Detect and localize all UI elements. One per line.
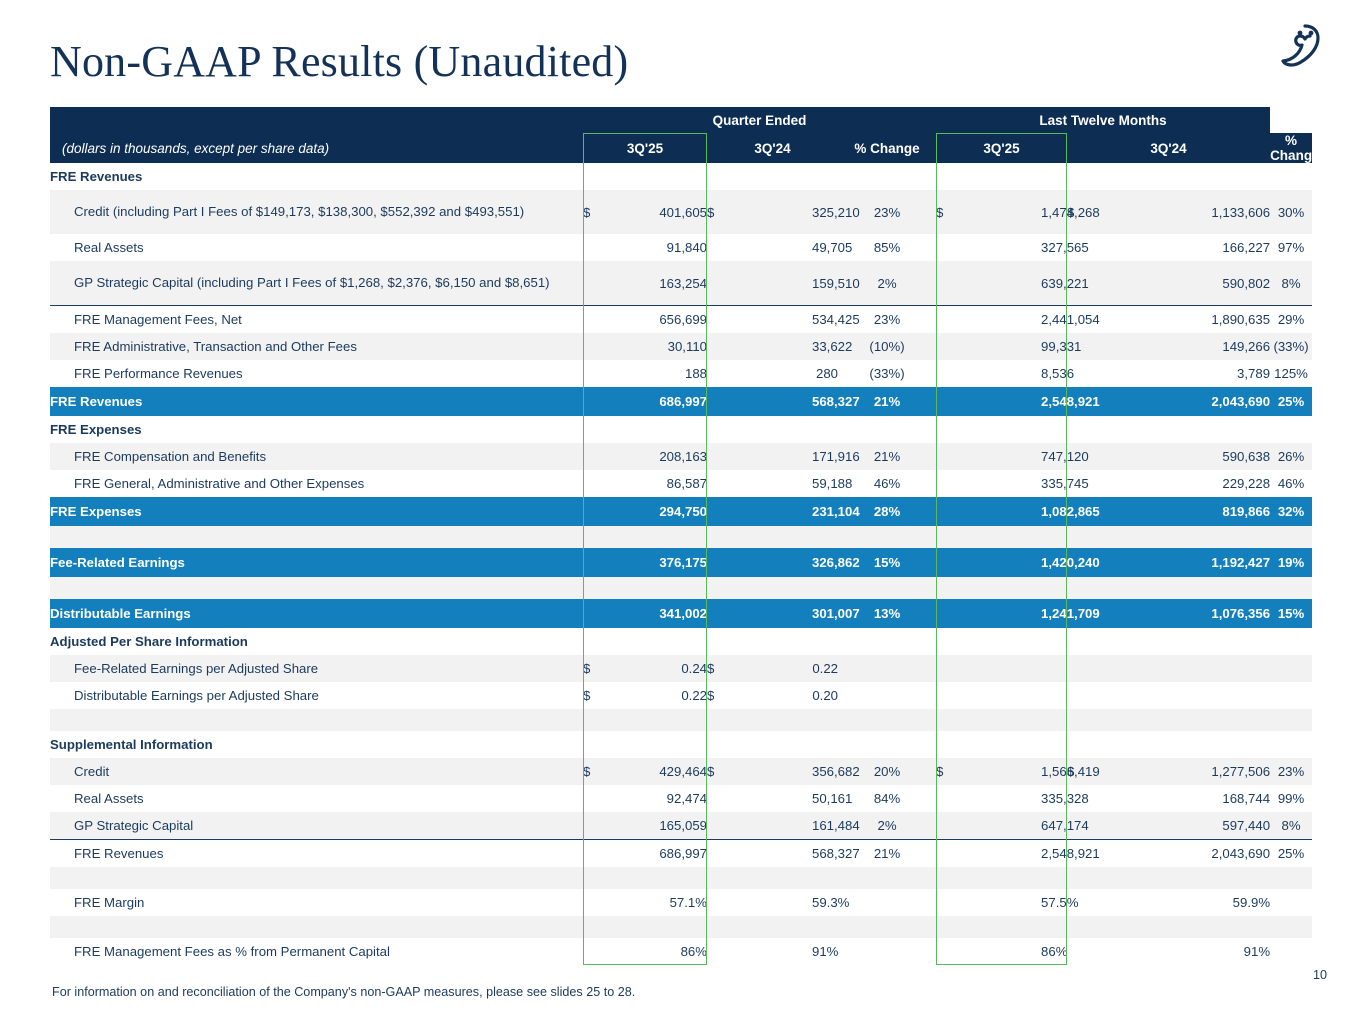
cell-currency-symbol: $ — [707, 655, 812, 682]
cell-percent — [838, 577, 936, 599]
cell-value: 0.22 — [812, 655, 838, 682]
cell-percent: 99% — [1270, 785, 1312, 812]
column-header-ltm-3q24: 3Q'24 — [1067, 133, 1270, 163]
table-row: Credit (including Part I Fees of $149,17… — [50, 190, 1312, 234]
cell-value: 91,840 — [609, 234, 707, 261]
cell-value: 325,210 — [812, 190, 838, 234]
cell-value — [1165, 577, 1270, 599]
cell-percent: (33%) — [838, 360, 936, 387]
cell-currency-symbol — [583, 840, 609, 868]
cell-currency-symbol — [936, 938, 1041, 965]
cell-value — [1041, 709, 1067, 731]
cell-value — [1165, 731, 1270, 758]
cell-value — [812, 867, 838, 889]
cell-currency-symbol: $ — [583, 682, 609, 709]
cell-value — [1165, 867, 1270, 889]
row-label: GP Strategic Capital (including Part I F… — [50, 261, 583, 306]
cell-value: 1,192,427 — [1165, 548, 1270, 577]
cell-currency-symbol — [707, 526, 812, 548]
row-label: Real Assets — [50, 234, 583, 261]
cell-percent — [1270, 655, 1312, 682]
cell-value: 1,133,606 — [1165, 190, 1270, 234]
cell-value — [812, 577, 838, 599]
cell-value — [609, 731, 707, 758]
cell-value: 188 — [609, 360, 707, 387]
cell-value: 534,425 — [812, 306, 838, 334]
non-gaap-results-table: Quarter EndedLast Twelve Months (dollars… — [50, 107, 1312, 965]
cell-currency-symbol — [583, 526, 609, 548]
cell-percent: 46% — [838, 470, 936, 497]
cell-value: 99,331 — [1041, 333, 1067, 360]
cell-value: 2,441,054 — [1041, 306, 1067, 334]
cell-currency-symbol — [583, 938, 609, 965]
cell-currency-symbol — [707, 867, 812, 889]
cell-currency-symbol — [1067, 682, 1165, 709]
cell-currency-symbol — [707, 443, 812, 470]
cell-percent: 46% — [1270, 470, 1312, 497]
table-row: FRE Administrative, Transaction and Othe… — [50, 333, 1312, 360]
row-label: FRE General, Administrative and Other Ex… — [50, 470, 583, 497]
row-label: FRE Margin — [50, 889, 583, 916]
cell-value: 401,605 — [609, 190, 707, 234]
cell-value: 59.9% — [1165, 889, 1270, 916]
cell-value: 59,188 — [812, 470, 838, 497]
column-header-quarter-3q24: 3Q'24 — [707, 133, 838, 163]
cell-currency-symbol — [707, 599, 812, 628]
group-header-row: Quarter EndedLast Twelve Months — [50, 107, 1312, 133]
cell-currency-symbol — [936, 916, 1041, 938]
cell-currency-symbol — [707, 812, 812, 840]
cell-currency-symbol — [936, 497, 1041, 526]
column-header-ltm-3q25: 3Q'25 — [936, 133, 1067, 163]
cell-value — [1041, 682, 1067, 709]
row-label: Fee-Related Earnings — [50, 548, 583, 577]
cell-value: 647,174 — [1041, 812, 1067, 840]
cell-value: 301,007 — [812, 599, 838, 628]
cell-value — [1165, 916, 1270, 938]
table-row: FRE Expenses — [50, 416, 1312, 443]
cell-value: 294,750 — [609, 497, 707, 526]
cell-currency-symbol — [707, 628, 812, 655]
cell-value: 8,536 — [1041, 360, 1067, 387]
cell-currency-symbol — [1067, 916, 1165, 938]
cell-value: 341,002 — [609, 599, 707, 628]
row-label — [50, 916, 583, 938]
cell-currency-symbol — [936, 840, 1041, 868]
footnote: For information on and reconciliation of… — [52, 985, 635, 999]
cell-currency-symbol — [1067, 709, 1165, 731]
cell-currency-symbol — [936, 655, 1041, 682]
table-row: Fee-Related Earnings per Adjusted Share$… — [50, 655, 1312, 682]
cell-currency-symbol — [936, 599, 1041, 628]
table-row — [50, 867, 1312, 889]
cell-currency-symbol — [1067, 416, 1165, 443]
cell-value: 1,082,865 — [1041, 497, 1067, 526]
cell-currency-symbol — [936, 731, 1041, 758]
cell-percent — [1270, 731, 1312, 758]
cell-currency-symbol: $ — [583, 655, 609, 682]
cell-value: 168,744 — [1165, 785, 1270, 812]
cell-currency-symbol: $ — [707, 682, 812, 709]
cell-value: 92,474 — [609, 785, 707, 812]
cell-value: 819,866 — [1165, 497, 1270, 526]
cell-percent — [1270, 916, 1312, 938]
cell-currency-symbol — [936, 234, 1041, 261]
cell-percent — [838, 709, 936, 731]
table-body: FRE RevenuesCredit (including Part I Fee… — [50, 163, 1312, 965]
cell-currency-symbol — [707, 840, 812, 868]
cell-percent: 23% — [1270, 758, 1312, 785]
cell-value: 86% — [609, 938, 707, 965]
cell-value — [812, 628, 838, 655]
cell-currency-symbol: $ — [936, 758, 1041, 785]
cell-currency-symbol — [1067, 163, 1165, 190]
cell-currency-symbol — [583, 731, 609, 758]
cell-currency-symbol — [707, 163, 812, 190]
cell-percent — [838, 867, 936, 889]
cell-value — [609, 628, 707, 655]
cell-value — [1041, 628, 1067, 655]
cell-percent: 25% — [1270, 840, 1312, 868]
page-number: 10 — [1313, 968, 1327, 982]
cell-percent: 25% — [1270, 387, 1312, 416]
cell-currency-symbol — [936, 261, 1041, 306]
table-row: Real Assets91,84049,70585%327,565166,227… — [50, 234, 1312, 261]
cell-value — [1165, 416, 1270, 443]
cell-value: 2,548,921 — [1041, 387, 1067, 416]
cell-value — [609, 916, 707, 938]
cell-value: 356,682 — [812, 758, 838, 785]
cell-value — [812, 526, 838, 548]
cell-value — [1041, 731, 1067, 758]
row-label: FRE Revenues — [50, 387, 583, 416]
cell-value: 327,565 — [1041, 234, 1067, 261]
cell-currency-symbol — [707, 938, 812, 965]
cell-currency-symbol — [707, 470, 812, 497]
cell-value: 165,059 — [609, 812, 707, 840]
cell-value: 686,997 — [609, 840, 707, 868]
owl-logo — [1275, 20, 1327, 68]
cell-percent: 15% — [1270, 599, 1312, 628]
cell-percent: 32% — [1270, 497, 1312, 526]
cell-currency-symbol — [583, 387, 609, 416]
cell-percent — [838, 938, 936, 965]
table-row: FRE Revenues — [50, 163, 1312, 190]
cell-value — [1165, 163, 1270, 190]
cell-percent — [1270, 867, 1312, 889]
cell-value: 86% — [1041, 938, 1067, 965]
cell-percent — [1270, 577, 1312, 599]
cell-percent — [838, 682, 936, 709]
cell-currency-symbol — [707, 709, 812, 731]
table-row: Real Assets92,47450,16184%335,328168,744… — [50, 785, 1312, 812]
cell-currency-symbol — [583, 306, 609, 334]
cell-currency-symbol — [1067, 731, 1165, 758]
cell-value: 1,474,268 — [1041, 190, 1067, 234]
cell-value — [609, 709, 707, 731]
cell-currency-symbol — [936, 470, 1041, 497]
row-label: FRE Revenues — [50, 840, 583, 868]
cell-value: 149,266 — [1165, 333, 1270, 360]
cell-value: 86,587 — [609, 470, 707, 497]
group-header-blank — [50, 107, 583, 133]
cell-percent — [838, 526, 936, 548]
cell-value — [609, 577, 707, 599]
cell-currency-symbol — [1067, 526, 1165, 548]
cell-currency-symbol — [583, 360, 609, 387]
table-row — [50, 526, 1312, 548]
table-row: FRE Revenues686,997568,32721%2,548,9212,… — [50, 387, 1312, 416]
cell-percent — [838, 163, 936, 190]
cell-currency-symbol — [936, 526, 1041, 548]
cell-percent — [1270, 416, 1312, 443]
cell-value: 568,327 — [812, 840, 838, 868]
cell-value — [812, 416, 838, 443]
cell-value — [609, 416, 707, 443]
row-label: Credit — [50, 758, 583, 785]
cell-percent: (10%) — [838, 333, 936, 360]
table-row: FRE General, Administrative and Other Ex… — [50, 470, 1312, 497]
table-row: Adjusted Per Share Information — [50, 628, 1312, 655]
cell-currency-symbol — [583, 163, 609, 190]
column-header-ltm-change: % Change — [1270, 133, 1312, 163]
row-label: Supplemental Information — [50, 731, 583, 758]
cell-value — [609, 163, 707, 190]
column-header-row: (dollars in thousands, except per share … — [50, 133, 1312, 163]
cell-percent — [1270, 526, 1312, 548]
cell-currency-symbol — [583, 261, 609, 306]
cell-currency-symbol — [707, 785, 812, 812]
row-label: FRE Compensation and Benefits — [50, 443, 583, 470]
cell-currency-symbol — [707, 497, 812, 526]
cell-currency-symbol — [583, 628, 609, 655]
slide-canvas: Non-GAAP Results (Unaudited) Quarter End… — [0, 0, 1365, 1024]
cell-currency-symbol — [936, 416, 1041, 443]
table-row: Distributable Earnings per Adjusted Shar… — [50, 682, 1312, 709]
cell-currency-symbol — [583, 709, 609, 731]
cell-percent: 125% — [1270, 360, 1312, 387]
cell-value: 1,277,506 — [1165, 758, 1270, 785]
cell-percent — [1270, 709, 1312, 731]
column-header-quarter-change: % Change — [838, 133, 936, 163]
cell-value: 686,997 — [609, 387, 707, 416]
cell-value — [1165, 682, 1270, 709]
cell-value: 1,566,419 — [1041, 758, 1067, 785]
cell-percent — [838, 655, 936, 682]
cell-value: 208,163 — [609, 443, 707, 470]
row-label: GP Strategic Capital — [50, 812, 583, 840]
column-header-quarter-3q25: 3Q'25 — [583, 133, 707, 163]
table-row: Distributable Earnings341,002301,00713%1… — [50, 599, 1312, 628]
row-label: Distributable Earnings per Adjusted Shar… — [50, 682, 583, 709]
cell-value: 376,175 — [609, 548, 707, 577]
cell-percent: 26% — [1270, 443, 1312, 470]
cell-value — [1165, 655, 1270, 682]
cell-percent — [838, 916, 936, 938]
cell-percent: 29% — [1270, 306, 1312, 334]
cell-currency-symbol — [583, 548, 609, 577]
cell-value — [1041, 577, 1067, 599]
cell-percent: 97% — [1270, 234, 1312, 261]
cell-percent — [838, 889, 936, 916]
cell-currency-symbol — [1067, 938, 1165, 965]
row-label — [50, 867, 583, 889]
cell-currency-symbol — [936, 812, 1041, 840]
cell-value: 335,328 — [1041, 785, 1067, 812]
cell-currency-symbol — [707, 387, 812, 416]
cell-value: 639,221 — [1041, 261, 1067, 306]
row-label: Fee-Related Earnings per Adjusted Share — [50, 655, 583, 682]
cell-currency-symbol — [936, 785, 1041, 812]
cell-value: 229,228 — [1165, 470, 1270, 497]
cell-percent: 8% — [1270, 812, 1312, 840]
cell-value — [1041, 526, 1067, 548]
cell-value: 2,043,690 — [1165, 840, 1270, 868]
table-row: FRE Compensation and Benefits208,163171,… — [50, 443, 1312, 470]
row-label: Credit (including Part I Fees of $149,17… — [50, 190, 583, 234]
cell-value: 159,510 — [812, 261, 838, 306]
cell-value: 49,705 — [812, 234, 838, 261]
cell-currency-symbol — [707, 889, 812, 916]
cell-value: 161,484 — [812, 812, 838, 840]
cell-value — [812, 916, 838, 938]
cell-value: 171,916 — [812, 443, 838, 470]
cell-value — [1165, 628, 1270, 655]
cell-value: 590,802 — [1165, 261, 1270, 306]
cell-currency-symbol — [707, 548, 812, 577]
table-row: Fee-Related Earnings376,175326,86215%1,4… — [50, 548, 1312, 577]
cell-value: 335,745 — [1041, 470, 1067, 497]
cell-percent: 8% — [1270, 261, 1312, 306]
cell-percent — [1270, 682, 1312, 709]
cell-value: 3,789 — [1165, 360, 1270, 387]
cell-currency-symbol — [936, 306, 1041, 334]
table-row: FRE Revenues686,997568,32721%2,548,9212,… — [50, 840, 1312, 868]
cell-value: 568,327 — [812, 387, 838, 416]
cell-value: 1,241,709 — [1041, 599, 1067, 628]
cell-currency-symbol — [583, 889, 609, 916]
row-label: FRE Management Fees, Net — [50, 306, 583, 334]
cell-currency-symbol — [583, 785, 609, 812]
cell-value: 747,120 — [1041, 443, 1067, 470]
cell-value: 33,622 — [812, 333, 838, 360]
cell-currency-symbol — [707, 261, 812, 306]
cell-value: 231,104 — [812, 497, 838, 526]
cell-currency-symbol — [936, 443, 1041, 470]
cell-currency-symbol — [936, 867, 1041, 889]
table-row — [50, 916, 1312, 938]
cell-value: 1,890,635 — [1165, 306, 1270, 334]
cell-value — [1041, 163, 1067, 190]
cell-currency-symbol: $ — [583, 190, 609, 234]
row-label: Adjusted Per Share Information — [50, 628, 583, 655]
cell-currency-symbol: $ — [707, 758, 812, 785]
cell-currency-symbol — [707, 916, 812, 938]
row-label: FRE Administrative, Transaction and Othe… — [50, 333, 583, 360]
cell-value — [1041, 416, 1067, 443]
cell-value: 656,699 — [609, 306, 707, 334]
cell-currency-symbol — [707, 306, 812, 334]
cell-currency-symbol — [936, 628, 1041, 655]
cell-currency-symbol — [583, 812, 609, 840]
cell-currency-symbol — [583, 497, 609, 526]
cell-currency-symbol — [707, 234, 812, 261]
row-label: Real Assets — [50, 785, 583, 812]
cell-currency-symbol — [583, 470, 609, 497]
cell-currency-symbol — [936, 163, 1041, 190]
cell-currency-symbol — [583, 916, 609, 938]
cell-value: 30,110 — [609, 333, 707, 360]
cell-currency-symbol — [1067, 655, 1165, 682]
cell-value — [1041, 655, 1067, 682]
table-row: FRE Expenses294,750231,10428%1,082,86581… — [50, 497, 1312, 526]
cell-percent — [1270, 628, 1312, 655]
table-row: FRE Performance Revenues188280(33%)8,536… — [50, 360, 1312, 387]
table-row: GP Strategic Capital165,059161,4842%647,… — [50, 812, 1312, 840]
cell-currency-symbol — [936, 889, 1041, 916]
units-note: (dollars in thousands, except per share … — [50, 133, 583, 163]
row-label: FRE Revenues — [50, 163, 583, 190]
cell-currency-symbol: $ — [583, 758, 609, 785]
table-row: GP Strategic Capital (including Part I F… — [50, 261, 1312, 306]
cell-percent: 84% — [838, 785, 936, 812]
cell-value: 91% — [1165, 938, 1270, 965]
cell-currency-symbol — [1067, 577, 1165, 599]
cell-percent — [838, 416, 936, 443]
cell-currency-symbol — [936, 682, 1041, 709]
cell-currency-symbol — [707, 333, 812, 360]
cell-value — [609, 867, 707, 889]
cell-currency-symbol — [1067, 628, 1165, 655]
row-label: Distributable Earnings — [50, 599, 583, 628]
cell-currency-symbol: $ — [707, 190, 812, 234]
cell-value — [1165, 526, 1270, 548]
row-label — [50, 526, 583, 548]
cell-value: 0.24 — [609, 655, 707, 682]
table-head-group: Quarter EndedLast Twelve Months (dollars… — [50, 107, 1312, 163]
cell-value: 0.20 — [812, 682, 838, 709]
cell-currency-symbol — [583, 443, 609, 470]
cell-percent — [838, 731, 936, 758]
row-label: FRE Expenses — [50, 497, 583, 526]
table-row: Supplemental Information — [50, 731, 1312, 758]
cell-currency-symbol — [583, 577, 609, 599]
cell-value: 590,638 — [1165, 443, 1270, 470]
cell-currency-symbol — [936, 360, 1041, 387]
cell-value: 1,420,240 — [1041, 548, 1067, 577]
cell-percent: 19% — [1270, 548, 1312, 577]
cell-currency-symbol — [1067, 867, 1165, 889]
cell-currency-symbol — [707, 360, 812, 387]
row-label: FRE Performance Revenues — [50, 360, 583, 387]
cell-value — [812, 731, 838, 758]
financial-table-container: Quarter EndedLast Twelve Months (dollars… — [50, 107, 1312, 965]
cell-currency-symbol — [1067, 889, 1165, 916]
cell-currency-symbol — [936, 387, 1041, 416]
table-row: FRE Margin57.1%59.3%57.5%59.9% — [50, 889, 1312, 916]
cell-value: 163,254 — [609, 261, 707, 306]
cell-value — [1041, 916, 1067, 938]
group-header-ltm: Last Twelve Months — [936, 107, 1270, 133]
cell-currency-symbol — [583, 333, 609, 360]
cell-value: 59.3% — [812, 889, 838, 916]
cell-currency-symbol — [936, 577, 1041, 599]
cell-currency-symbol: $ — [936, 190, 1041, 234]
cell-currency-symbol — [936, 548, 1041, 577]
cell-value: 326,862 — [812, 548, 838, 577]
cell-percent — [838, 628, 936, 655]
cell-value — [1165, 709, 1270, 731]
